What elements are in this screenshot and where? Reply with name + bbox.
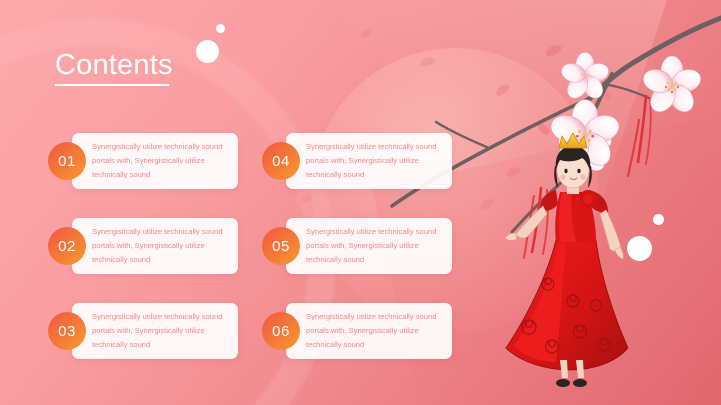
item-card[interactable]: Synergistically utilize technically soun… xyxy=(72,218,238,274)
item-number-badge: 01 xyxy=(48,142,86,180)
contents-list: 01 Synergistically utilize technically s… xyxy=(0,0,721,405)
item-description: Synergistically utilize technically soun… xyxy=(286,225,452,267)
item-number-badge: 05 xyxy=(262,227,300,265)
list-item[interactable]: 05 Synergistically utilize technically s… xyxy=(262,218,452,274)
item-card[interactable]: Synergistically utilize technically soun… xyxy=(286,133,452,189)
item-description: Synergistically utilize technically soun… xyxy=(286,310,452,352)
item-description: Synergistically utilize technically soun… xyxy=(72,225,238,267)
item-description: Synergistically utilize technically soun… xyxy=(72,310,238,352)
presentation-slide: Contents 01 Synergistically utilize tech… xyxy=(0,0,721,405)
list-item[interactable]: 03 Synergistically utilize technically s… xyxy=(48,303,238,359)
item-card[interactable]: Synergistically utilize technically soun… xyxy=(286,303,452,359)
item-card[interactable]: Synergistically utilize technically soun… xyxy=(72,133,238,189)
item-card[interactable]: Synergistically utilize technically soun… xyxy=(286,218,452,274)
item-number-badge: 03 xyxy=(48,312,86,350)
list-item[interactable]: 01 Synergistically utilize technically s… xyxy=(48,133,238,189)
item-description: Synergistically utilize technically soun… xyxy=(286,140,452,182)
item-number-badge: 02 xyxy=(48,227,86,265)
list-item[interactable]: 06 Synergistically utilize technically s… xyxy=(262,303,452,359)
item-number-badge: 04 xyxy=(262,142,300,180)
list-item[interactable]: 02 Synergistically utilize technically s… xyxy=(48,218,238,274)
list-item[interactable]: 04 Synergistically utilize technically s… xyxy=(262,133,452,189)
item-number-badge: 06 xyxy=(262,312,300,350)
item-card[interactable]: Synergistically utilize technically soun… xyxy=(72,303,238,359)
item-description: Synergistically utilize technically soun… xyxy=(72,140,238,182)
